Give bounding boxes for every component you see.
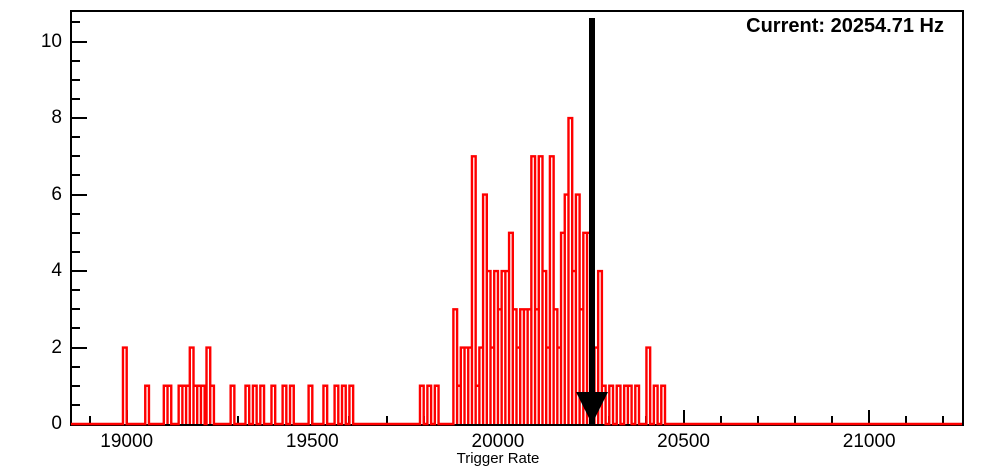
root-canvas: 0246810 1900019500200002050021000 Curren…: [0, 0, 996, 472]
current-rate-title: Current: 20254.71 Hz: [0, 15, 944, 38]
histogram-step-line: [71, 118, 962, 424]
current-rate-arrow-shaft: [589, 18, 595, 424]
x-axis-title: Trigger Rate: [398, 450, 598, 467]
current-rate-arrow-head: [576, 392, 608, 424]
histogram-plot: [0, 0, 996, 472]
